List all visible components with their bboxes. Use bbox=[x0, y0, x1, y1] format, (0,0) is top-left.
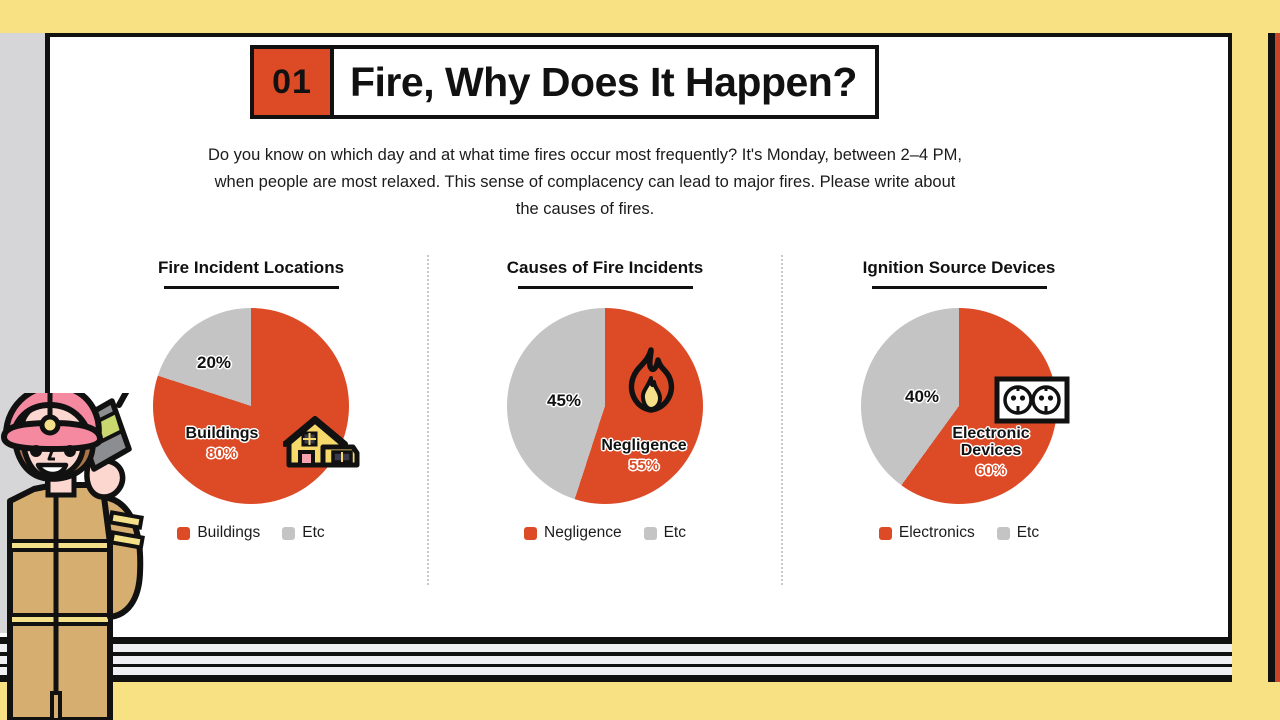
legend-swatch-grey bbox=[282, 527, 295, 540]
legend-item-etc[interactable]: Etc bbox=[282, 524, 324, 542]
stripe-2 bbox=[0, 656, 1232, 664]
legend-swatch-orange bbox=[879, 527, 892, 540]
chart-legend: Negligence Etc bbox=[524, 524, 686, 542]
stripe-3 bbox=[0, 667, 1232, 675]
house-icon bbox=[283, 413, 361, 478]
legend-item-etc[interactable]: Etc bbox=[644, 524, 686, 542]
chart-title-rule bbox=[518, 286, 693, 289]
legend-swatch-grey bbox=[997, 527, 1010, 540]
chart-title: Ignition Source Devices bbox=[863, 258, 1056, 278]
legend-item-negligence[interactable]: Negligence bbox=[524, 524, 622, 542]
legend-swatch-grey bbox=[644, 527, 657, 540]
legend-item-electronics[interactable]: Electronics bbox=[879, 524, 975, 542]
chart-title: Fire Incident Locations bbox=[158, 258, 344, 278]
stripe-1 bbox=[0, 644, 1232, 652]
pie-chart-locations: 20% Buildings 80% bbox=[153, 308, 349, 504]
chart-title: Causes of Fire Incidents bbox=[507, 258, 704, 278]
section-number-badge: 01 bbox=[250, 45, 334, 119]
legend-item-etc[interactable]: Etc bbox=[997, 524, 1039, 542]
frame-right-accent-line bbox=[1275, 33, 1280, 682]
pie-chart-causes: 45% Negligence 55% bbox=[507, 308, 703, 504]
legend-swatch-orange bbox=[524, 527, 537, 540]
chart-title-rule bbox=[164, 286, 339, 289]
legend-swatch-orange bbox=[177, 527, 190, 540]
slide-title-box: Fire, Why Does It Happen? bbox=[334, 45, 879, 119]
page-title: Fire, Why Does It Happen? bbox=[350, 62, 857, 103]
bottom-stripe-decoration bbox=[0, 637, 1232, 682]
flame-icon bbox=[617, 346, 685, 423]
pie-chart-ignition: 40% Electronic Devices 60% bbox=[861, 308, 1057, 504]
chart-legend: Electronics Etc bbox=[879, 524, 1039, 542]
chart-title-rule bbox=[872, 286, 1047, 289]
firefighter-illustration bbox=[0, 393, 160, 720]
charts-row: Fire Incident Locations 20% Buildings 80… bbox=[75, 255, 1135, 585]
slide-header: 01 Fire, Why Does It Happen? bbox=[250, 45, 879, 119]
chart-causes-of-fire-incidents: Causes of Fire Incidents 45% Negligence … bbox=[427, 255, 781, 585]
slide-description: Do you know on which day and at what tim… bbox=[205, 142, 965, 223]
legend-item-buildings[interactable]: Buildings bbox=[177, 524, 260, 542]
power-outlet-icon bbox=[994, 376, 1070, 429]
chart-legend: Buildings Etc bbox=[177, 524, 324, 542]
chart-ignition-source-devices: Ignition Source Devices 40% Electronic D… bbox=[781, 255, 1135, 585]
